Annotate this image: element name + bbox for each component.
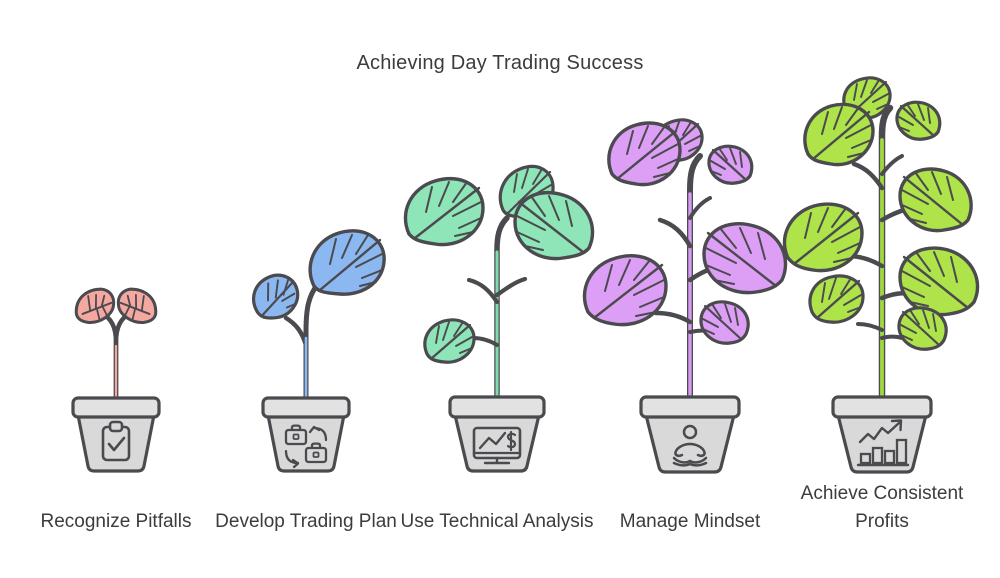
leaf <box>900 169 971 231</box>
plant-illustration-4 <box>590 70 790 470</box>
leaf <box>701 302 748 343</box>
plant-illustration-1 <box>16 70 216 470</box>
stage-label: Use Technical Analysis <box>397 508 597 536</box>
plant-stem-1 <box>100 312 132 400</box>
leaf <box>900 248 978 315</box>
stage-label: Achieve Consistent Profits <box>782 480 982 536</box>
leaf <box>784 204 862 271</box>
leaf <box>405 179 483 245</box>
plant-illustration-2 <box>206 70 406 470</box>
plant-illustration-5 <box>782 70 982 470</box>
leaf <box>515 193 593 259</box>
leaf <box>704 224 786 293</box>
stage-label: Manage Mindset <box>590 508 790 536</box>
leaf <box>609 123 680 185</box>
leaf <box>709 146 752 183</box>
leaf <box>897 102 940 139</box>
stage-label: Develop Trading Plan <box>206 508 406 536</box>
stage-use-technical-analysis: Use Technical Analysis <box>397 58 597 578</box>
stage-develop-trading-plan: Develop Trading Plan <box>206 58 406 578</box>
leaf <box>899 308 946 349</box>
stage-achieve-consistent-profits: Achieve Consistent Profits <box>782 58 982 578</box>
stage-manage-mindset: Manage Mindset <box>590 58 790 578</box>
leaf <box>251 273 300 320</box>
plant-illustration-3 <box>397 70 597 470</box>
stage-recognize-pitfalls: Recognize Pitfalls <box>16 58 216 578</box>
leaf <box>805 104 873 164</box>
stage-label: Recognize Pitfalls <box>16 508 216 536</box>
leaf <box>584 256 666 325</box>
plant-stem-3 <box>469 218 525 400</box>
leaf <box>310 231 384 294</box>
leaf <box>425 320 474 362</box>
growth-stages-infographic: Achieving Day Trading Success <box>0 0 1000 578</box>
leaf <box>810 276 863 322</box>
